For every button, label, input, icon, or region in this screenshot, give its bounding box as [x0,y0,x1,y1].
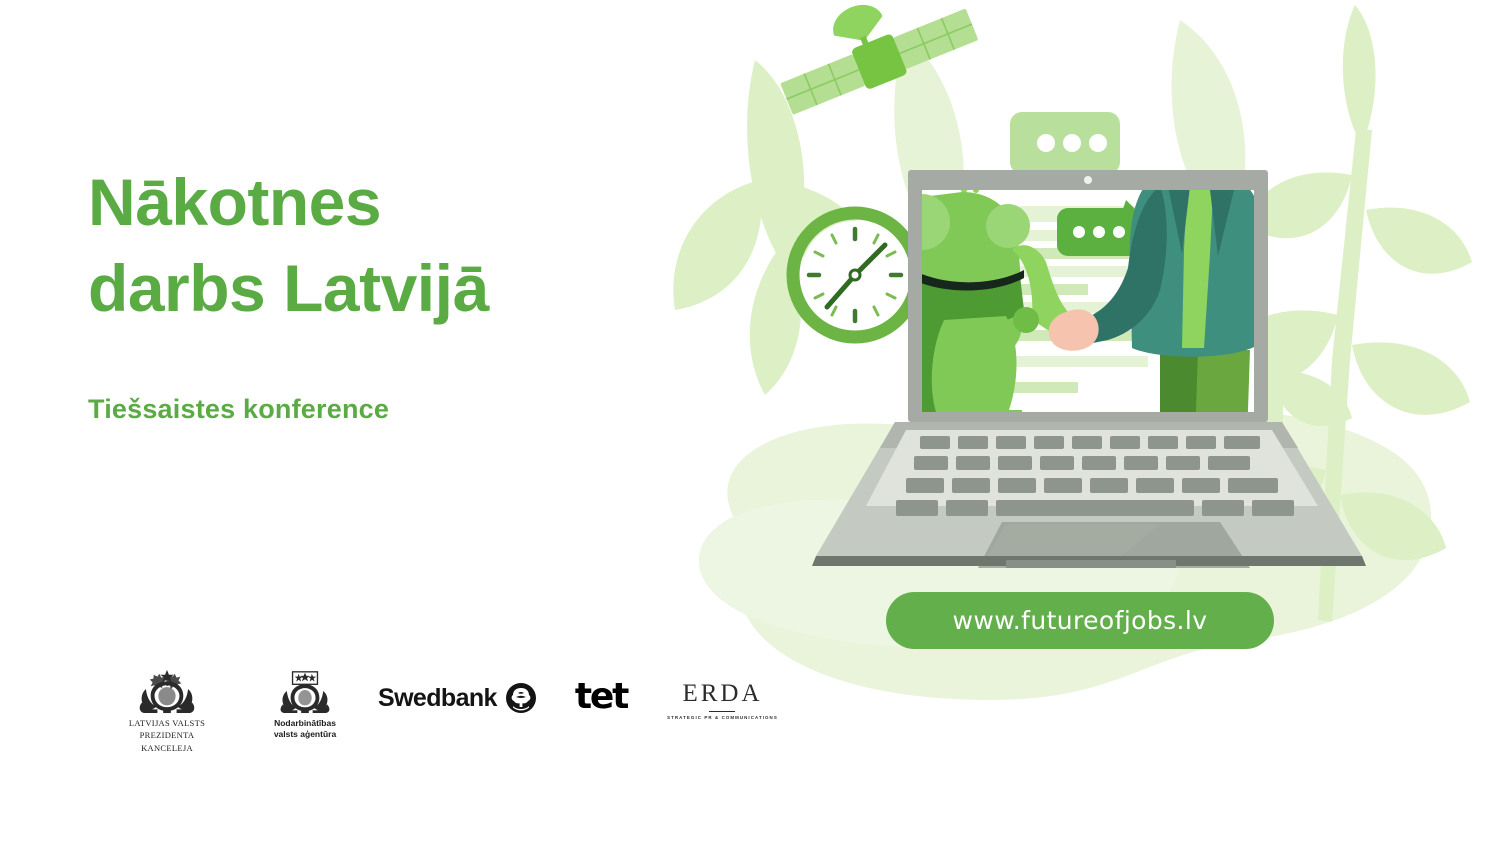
sponsor-logo-latvijas-valsts-prezidenta-kanceleja[interactable]: LATVIJAS VALSTS PREZIDENTA KANCELEJA [102,668,232,754]
page-title: Nākotnes darbs Latvijā [88,160,728,332]
sponsor-logo-tet[interactable]: tet [575,668,627,717]
sponsor-caption-line1: Nodarbinātības [274,718,336,729]
page-subtitle: Tiešsaistes konference [88,332,728,425]
website-url-label: www.futureofjobs.lv [953,606,1208,635]
erda-divider [709,711,735,712]
poster-canvas: Nākotnes darbs Latvijā Tiešsaistes konfe… [0,0,1500,860]
website-url-button[interactable]: www.futureofjobs.lv [886,592,1274,649]
sponsor-logo-nodarbinatibas-valsts-agentura[interactable]: Nodarbinātības valsts aģentūra [260,668,350,741]
coat-of-arms-icon [276,668,334,714]
sponsor-logo-erda[interactable]: ERDA STRATEGIC PR & COMMUNICATIONS [667,668,778,720]
wall-clock-icon [793,213,917,337]
oak-tree-icon [505,682,537,714]
sponsor-caption-line2: KANCELEJA [102,742,232,754]
swedbank-wordmark: Swedbank [378,684,497,713]
erda-wordmark: ERDA [682,680,762,708]
coat-of-arms-icon [138,668,196,714]
laptop-base [812,422,1366,568]
sponsor-caption-line2: valsts aģentūra [274,729,336,740]
tet-wordmark: tet [575,676,627,717]
sponsor-logo-swedbank[interactable]: Swedbank [378,668,537,714]
hero-text-block: Nākotnes darbs Latvijā Tiešsaistes konfe… [88,160,728,425]
laptop-camera [1084,176,1092,184]
erda-tagline: STRATEGIC PR & COMMUNICATIONS [667,715,778,720]
sponsor-caption-line1: LATVIJAS VALSTS PREZIDENTA [102,717,232,742]
sponsor-logo-strip: LATVIJAS VALSTS PREZIDENTA KANCELEJA [92,668,778,754]
satellite-icon [764,0,981,119]
speech-bubble-inner-icon [1057,200,1141,256]
